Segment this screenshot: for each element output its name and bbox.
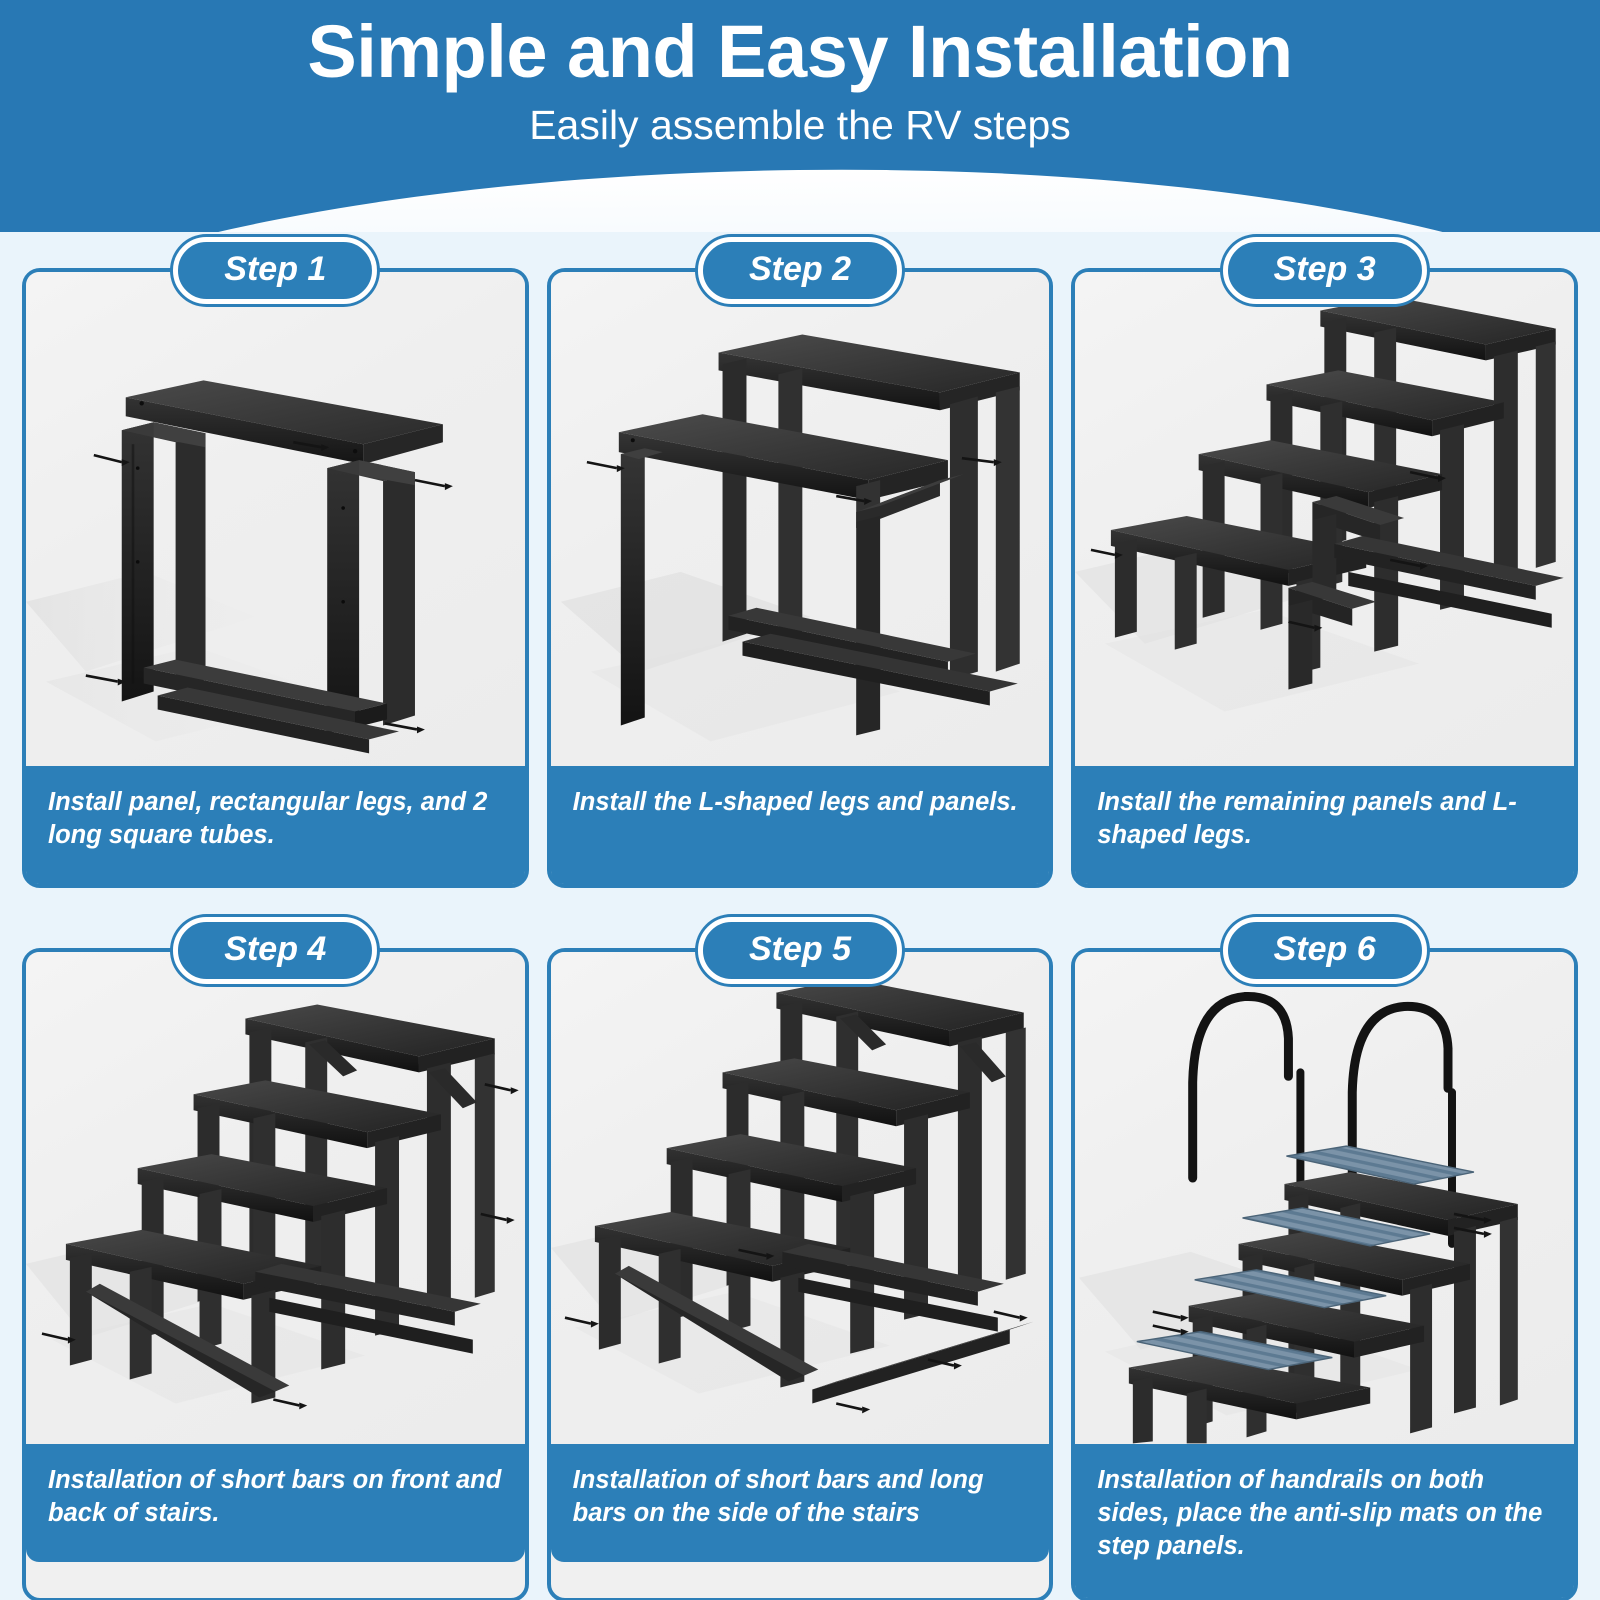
step-illustration-1 [26,272,525,766]
frame-short-bars-icon [26,952,525,1444]
step-badge-5: Step 5 [698,917,902,984]
page-subtitle: Easily assemble the RV steps [0,101,1600,150]
step-illustration-5 [551,952,1050,1444]
header-banner: Simple and Easy Installation Easily asse… [0,0,1600,232]
step-illustration-4 [26,952,525,1444]
step-badge-3: Step 3 [1223,237,1427,304]
step-badge-2: Step 2 [698,237,902,304]
frame-panel-legs-icon [26,272,525,766]
step-caption-1: Install panel, rectangular legs, and 2 l… [26,766,525,884]
frame-handrails-mats-icon [1075,952,1574,1444]
step-card-4[interactable]: Step 4 [22,948,529,1600]
step-illustration-3 [1075,272,1574,766]
step-caption-4: Installation of short bars on front and … [26,1444,525,1562]
frame-side-bars-icon [551,952,1050,1444]
steps-grid: Step 1 [22,268,1578,1600]
header-curve-divider [0,159,1600,232]
step-card-6[interactable]: Step 6 [1071,948,1578,1600]
step-card-3[interactable]: Step 3 [1071,268,1578,888]
steps-row-bottom: Step 4 [22,948,1578,1600]
step-caption-6: Installation of handrails on both sides,… [1075,1444,1574,1598]
step-caption-2: Install the L-shaped legs and panels. [551,766,1050,884]
page-title: Simple and Easy Installation [0,8,1600,95]
step-badge-4: Step 4 [173,917,377,984]
step-illustration-6 [1075,952,1574,1444]
step-caption-3: Install the remaining panels and L-shape… [1075,766,1574,884]
step-illustration-2 [551,272,1050,766]
step-badge-1: Step 1 [173,237,377,304]
frame-remaining-panels-icon [1075,272,1574,766]
step-card-2[interactable]: Step 2 [547,268,1054,888]
step-badge-6: Step 6 [1223,917,1427,984]
frame-l-legs-panels-icon [551,272,1050,766]
step-card-1[interactable]: Step 1 [22,268,529,888]
steps-row-top: Step 1 [22,268,1578,888]
step-caption-5: Installation of short bars and long bars… [551,1444,1050,1562]
step-card-5[interactable]: Step 5 [547,948,1054,1600]
infographic-page: Simple and Easy Installation Easily asse… [0,0,1600,1600]
